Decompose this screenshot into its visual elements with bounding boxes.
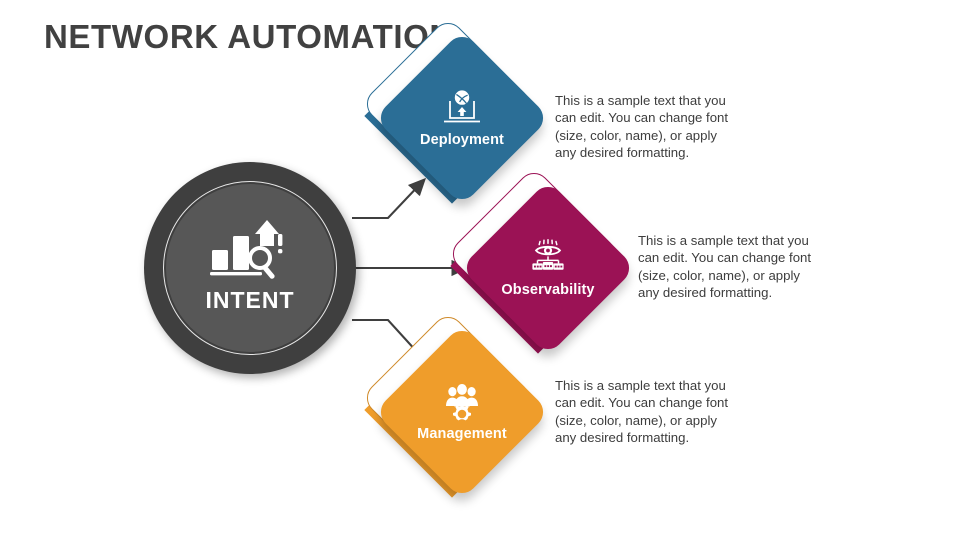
- slide-canvas: NETWORK AUTOMATION: [0, 0, 960, 540]
- node-content: Observability: [486, 206, 610, 330]
- laptop-upload-globe-icon: [439, 88, 485, 128]
- description-observability: This is a sample text that you can edit.…: [638, 232, 816, 302]
- node-management[interactable]: Management: [372, 330, 552, 510]
- node-label: Observability: [501, 282, 594, 298]
- people-gear-icon: [439, 382, 485, 422]
- center-node-intent[interactable]: INTENT: [144, 162, 356, 374]
- description-management: This is a sample text that you can edit.…: [555, 377, 733, 447]
- center-label: INTENT: [144, 287, 356, 314]
- node-content: Management: [400, 350, 524, 474]
- bar-chart-growth-magnifier-icon: [208, 214, 292, 282]
- eye-network-nodes-icon: [525, 238, 571, 278]
- description-deployment: This is a sample text that you can edit.…: [555, 92, 733, 162]
- node-content: Deployment: [400, 56, 524, 180]
- node-label: Management: [417, 426, 507, 442]
- node-label: Deployment: [420, 132, 504, 148]
